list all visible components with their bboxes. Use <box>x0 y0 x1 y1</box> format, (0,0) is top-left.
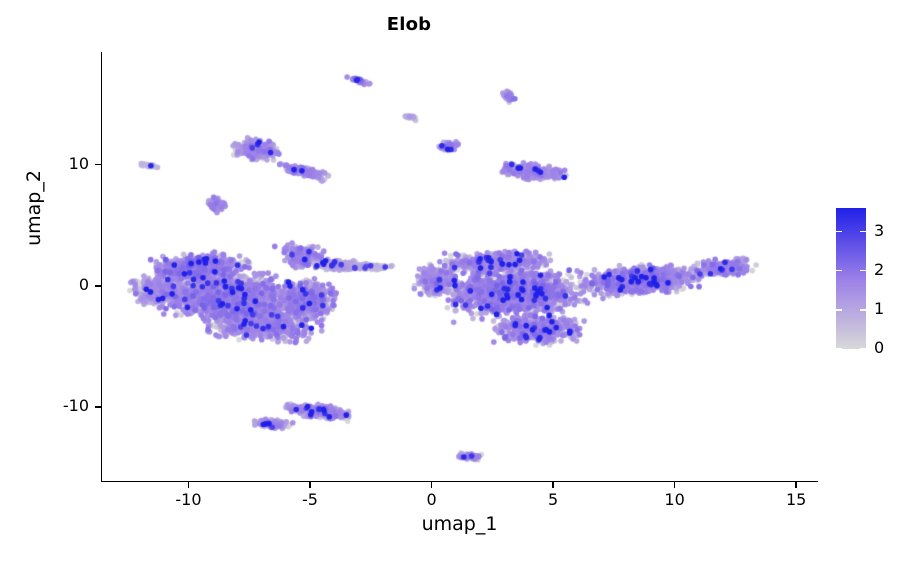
x-tick-label: 5 <box>523 490 583 509</box>
x-tick-label: 10 <box>645 490 705 509</box>
x-tick-mark <box>431 482 433 488</box>
y-tick-mark <box>95 164 101 166</box>
colorbar-tick-mark <box>836 231 842 233</box>
y-axis-label: umap_2 <box>23 88 45 328</box>
x-tick-label: -10 <box>158 490 218 509</box>
x-tick-label: 0 <box>402 490 462 509</box>
colorbar-tick-mark <box>860 309 866 311</box>
colorbar-tick-mark <box>860 270 866 272</box>
colorbar <box>836 208 866 349</box>
colorbar-tick-label: 3 <box>874 221 884 240</box>
x-tick-mark <box>309 482 311 488</box>
x-tick-mark <box>674 482 676 488</box>
colorbar-gradient <box>836 208 866 349</box>
colorbar-tick-mark <box>836 348 842 350</box>
x-axis-label: umap_1 <box>101 513 818 535</box>
scatter-points-canvas <box>102 52 818 481</box>
scatter-plot-area <box>102 52 818 481</box>
chart-root: Elob -10-5051015 -10010 umap_1 umap_2 01… <box>0 0 911 562</box>
plot-axes-frame <box>101 52 818 482</box>
colorbar-tick-mark <box>860 348 866 350</box>
chart-title: Elob <box>0 14 818 35</box>
x-tick-mark <box>552 482 554 488</box>
colorbar-tick-label: 1 <box>874 299 884 318</box>
x-tick-mark <box>795 482 797 488</box>
colorbar-tick-label: 2 <box>874 260 884 279</box>
colorbar-tick-mark <box>836 309 842 311</box>
x-tick-mark <box>188 482 190 488</box>
y-tick-label: -10 <box>33 396 89 415</box>
colorbar-tick-mark <box>860 231 866 233</box>
x-tick-label: -5 <box>280 490 340 509</box>
colorbar-tick-mark <box>836 270 842 272</box>
x-tick-label: 15 <box>766 490 826 509</box>
y-tick-mark <box>95 285 101 287</box>
y-tick-mark <box>95 406 101 408</box>
colorbar-tick-label: 0 <box>874 338 884 357</box>
